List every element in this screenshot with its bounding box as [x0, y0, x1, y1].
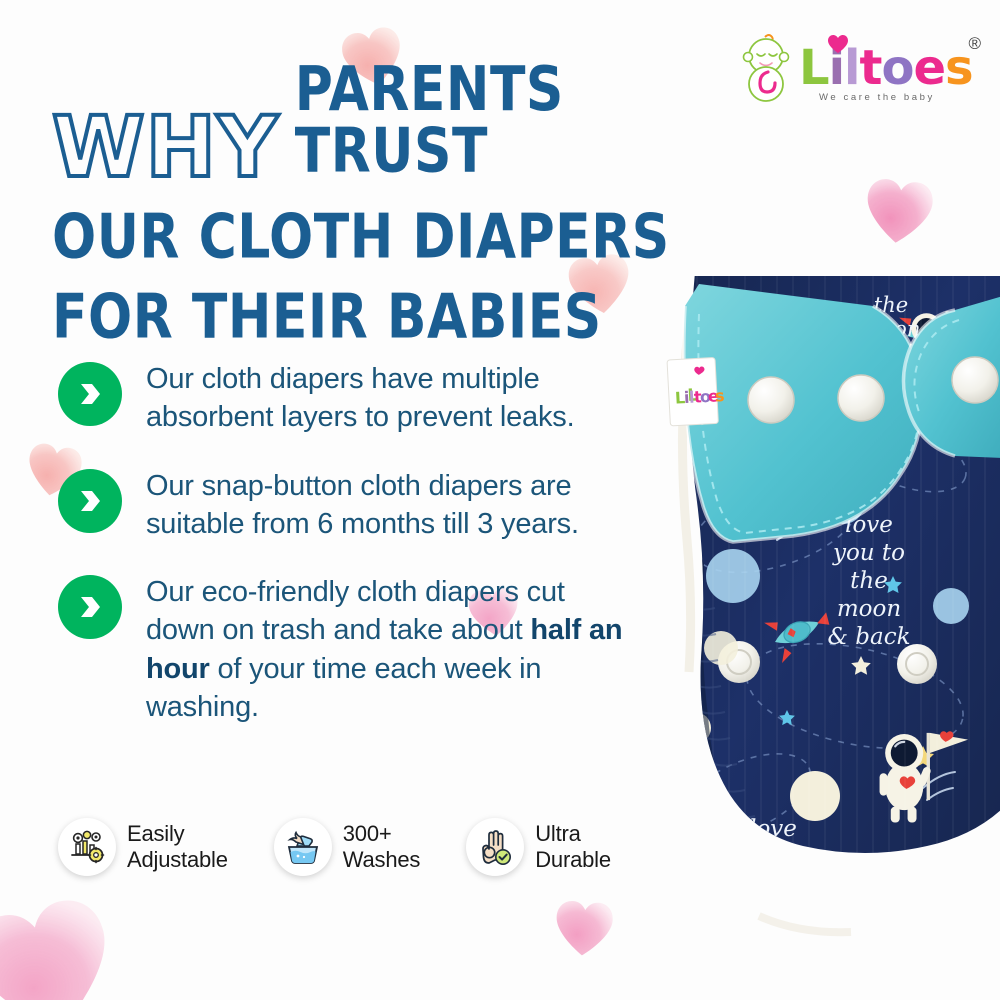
gears-adjust-icon: [58, 818, 116, 876]
svg-text:love: love: [749, 816, 797, 842]
headline-why: WHY: [52, 113, 279, 182]
logo-letter-l-0: L: [799, 44, 829, 92]
brand-logo: Liltoes We care the baby ®: [735, 26, 983, 114]
registered-mark: ®: [968, 34, 981, 54]
hand-ok-check-icon: [466, 818, 524, 876]
watercolor-heart-2: [859, 172, 940, 249]
feature-badge-2: 300+ Washes: [274, 818, 420, 876]
logo-letter-e-5: e: [913, 44, 945, 92]
feature-badge-label-1: Easily Adjustable: [127, 821, 228, 872]
hand-wash-basin-icon: [274, 818, 332, 876]
svg-text:moon: moon: [837, 596, 901, 622]
headline-line3: FOR THEIR BABIES: [52, 282, 692, 353]
chevron-arrow-icon: [58, 362, 122, 426]
benefit-item-3: Our eco-friendly cloth diapers cut down …: [58, 571, 638, 726]
feature-badge-label-2: 300+ Washes: [343, 821, 420, 872]
svg-text:& back: & back: [827, 624, 910, 650]
benefit-text-2: Our snap-button cloth diapers are suitab…: [146, 465, 638, 544]
logo-letter-o-4: o: [881, 44, 913, 92]
chevron-arrow-icon: [58, 469, 122, 533]
page-title: WHY PARENTS TRUST OUR CLOTH DIAPERS FOR …: [52, 78, 692, 342]
benefit-item-1: Our cloth diapers have multiple absorben…: [58, 358, 638, 437]
benefit-text-run: Our cloth diapers have multiple absorben…: [146, 363, 574, 433]
logo-heart-icon: [827, 34, 849, 54]
logo-wordmark: Liltoes: [799, 44, 973, 92]
feature-badge-3: Ultra Durable: [466, 818, 611, 876]
headline-line2: OUR CLOTH DIAPERS: [52, 202, 692, 273]
watercolor-heart-7: [0, 882, 135, 1000]
feature-badges: Easily Adjustable300+ WashesUltra Durabl…: [58, 818, 611, 876]
svg-text:s: s: [714, 386, 725, 405]
benefit-text-run: Our eco-friendly cloth diapers cut down …: [146, 576, 565, 646]
poster-canvas: Liltoes We care the baby ® WHY PARENTS T…: [0, 0, 1000, 1000]
product-image-cloth-diaper: love you to the moon & back love you to …: [655, 276, 1000, 948]
benefit-item-2: Our snap-button cloth diapers are suitab…: [58, 465, 638, 544]
headline-line1-rest: PARENTS TRUST: [295, 59, 692, 182]
feature-badge-1: Easily Adjustable: [58, 818, 228, 876]
svg-text:you to: you to: [832, 540, 905, 566]
benefit-text-run: Our snap-button cloth diapers are suitab…: [146, 470, 579, 540]
benefit-text-1: Our cloth diapers have multiple absorben…: [146, 358, 638, 437]
benefit-text-3: Our eco-friendly cloth diapers cut down …: [146, 571, 638, 726]
baby-face-icon: [735, 32, 797, 104]
benefit-list: Our cloth diapers have multiple absorben…: [58, 358, 638, 754]
svg-text:you to: you to: [736, 844, 809, 870]
svg-text:the: the: [850, 568, 888, 594]
watercolor-heart-6: [550, 896, 618, 960]
svg-text:the: the: [754, 872, 792, 898]
feature-badge-label-3: Ultra Durable: [535, 821, 611, 872]
logo-tagline: We care the baby: [819, 92, 935, 103]
chevron-arrow-icon: [58, 575, 122, 639]
logo-letter-t-3: t: [860, 44, 882, 92]
